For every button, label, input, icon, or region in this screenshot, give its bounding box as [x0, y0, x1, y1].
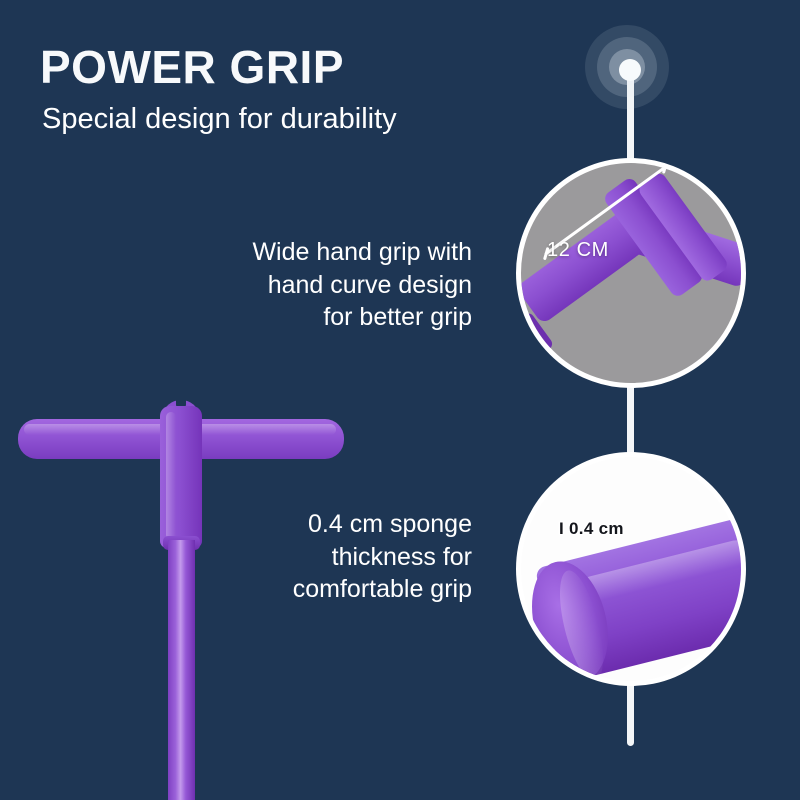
measurement-label-thickness: I 0.4 cm: [559, 519, 624, 539]
sponge-closeup-photo: I 0.4 cm: [521, 457, 741, 681]
measurement-label-12cm: 12 CM: [547, 239, 609, 262]
product-shaft: [168, 540, 195, 800]
center-sleeve-highlight: [166, 412, 176, 540]
callout-grip-closeup: 12 CM: [516, 158, 746, 388]
callout-sponge-closeup: I 0.4 cm: [516, 452, 746, 686]
grip-closeup-photo: 12 CM: [521, 163, 741, 383]
location-pin-marker-icon: [619, 59, 641, 81]
product-feature-banner: POWER GRIP Special design for durability…: [0, 0, 800, 800]
product-photo-main: [0, 0, 400, 800]
